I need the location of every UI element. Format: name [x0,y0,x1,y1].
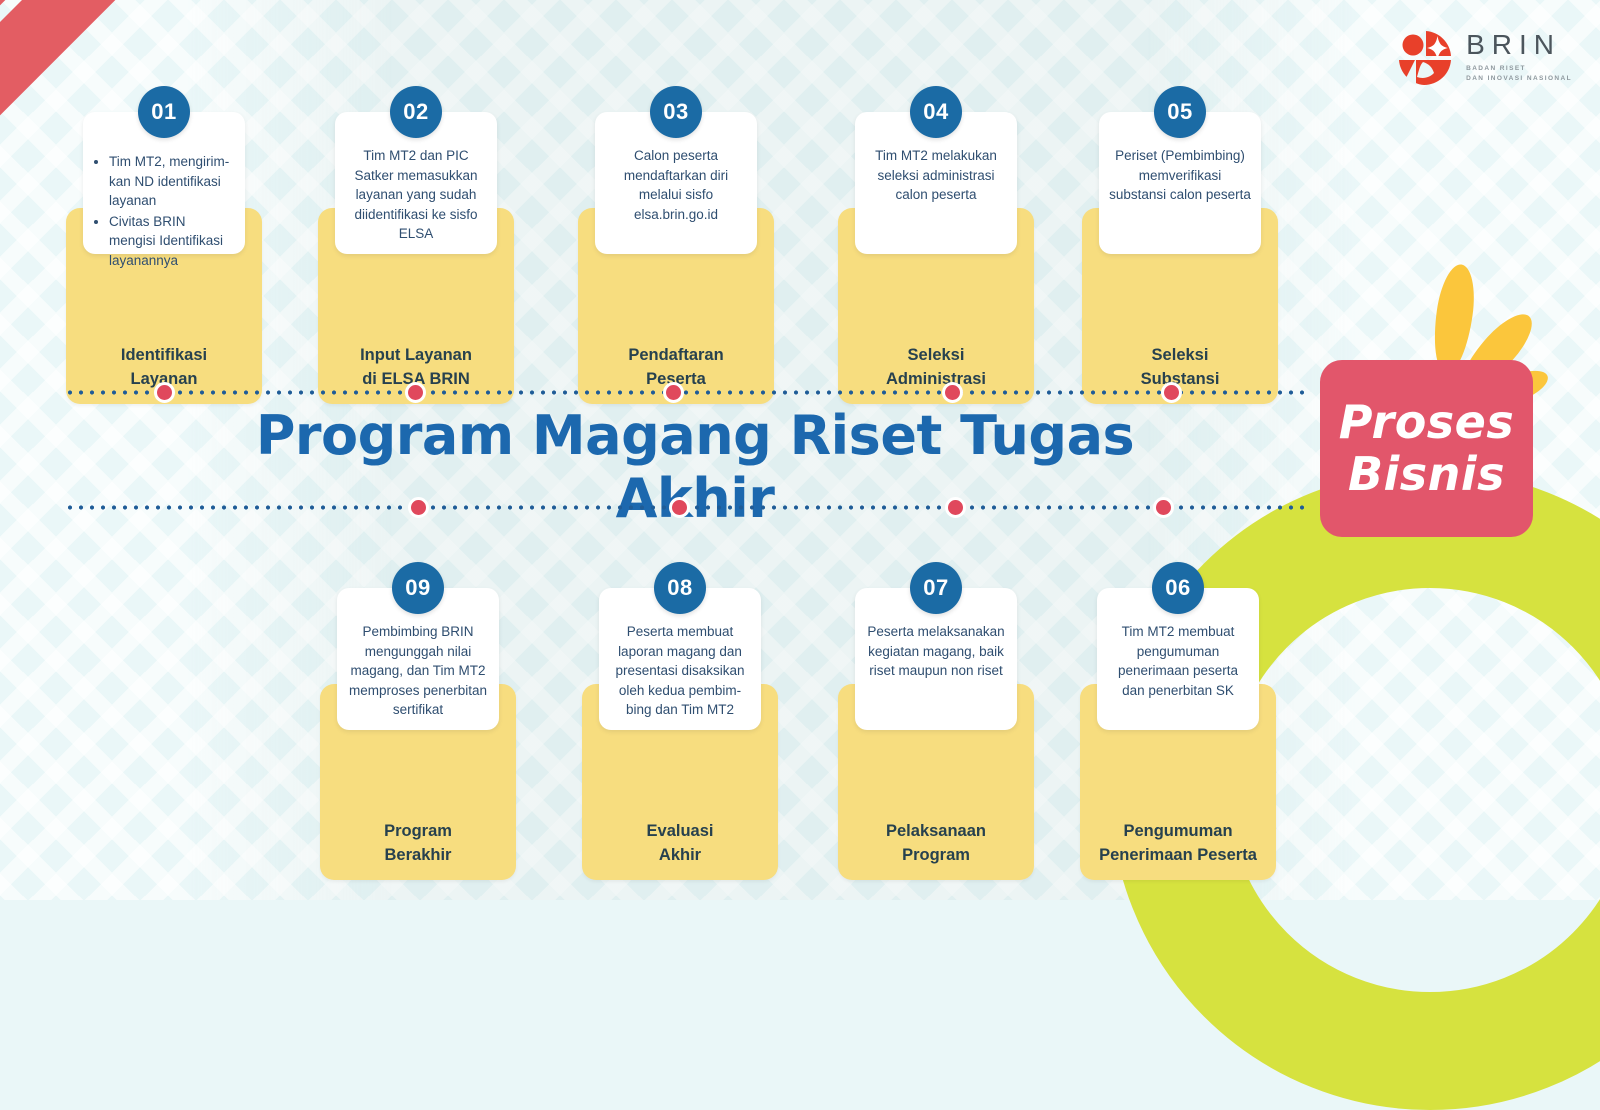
step-card-08-description: Peserta membuat laporan magang dan prese… [609,622,751,720]
step-card-06-title-line1: Pengumuman [1073,820,1283,844]
timeline-top-marker-2 [405,382,426,403]
brin-logo: BRIN BADAN RISET DAN INOVASI NASIONAL [1396,28,1572,86]
timeline-top-marker-5 [1161,382,1182,403]
timeline-top-marker-4 [942,382,963,403]
step-card-07-number: 07 [910,562,962,614]
step-card-04-title-line2: Administrasi [838,368,1034,392]
step-card-08-title: Evaluasi Akhir [582,820,778,868]
step-card-01-title-line1: Identifikasi [66,344,262,368]
step-card-04-title-line1: Seleksi [838,344,1034,368]
step-card-08-number: 08 [654,562,706,614]
step-card-09-title-line2: Berakhir [320,844,516,868]
step-card-01-number: 01 [138,86,190,138]
step-card-05-description: Periset (Pembimbing) memverifikasi subst… [1109,146,1251,205]
timeline-top-marker-3 [663,382,684,403]
proses-bisnis-box: Proses Bisnis [1320,360,1533,537]
step-card-07-description: Peserta melaksanakan kegiatan magang, ba… [865,622,1007,681]
step-card-06-number: 06 [1152,562,1204,614]
step-card-02-title-line1: Input Layanan [318,344,514,368]
step-card-09-number: 09 [392,562,444,614]
step-card-01-bullet-2: Civitas BRIN mengisi Identifikasi layana… [109,212,235,271]
step-card-08-title-line1: Evaluasi [582,820,778,844]
timeline-bottom-marker-2 [669,497,690,518]
step-card-05-title-line1: Seleksi [1082,344,1278,368]
timeline-bottom-marker-3 [945,497,966,518]
proses-bisnis-line1: Proses [1339,399,1515,446]
step-card-06-title: Pengumuman Penerimaan Peserta [1073,820,1283,868]
step-card-03-title-line1: Pendaftaran [578,344,774,368]
step-card-06-title-line2: Penerimaan Peserta [1073,844,1283,868]
step-card-06-description: Tim MT2 membuat pengumuman penerimaan pe… [1107,622,1249,700]
timeline-top-marker-1 [154,382,175,403]
brin-logo-mark [1396,28,1454,86]
step-card-05-number: 05 [1154,86,1206,138]
page-title: Program Magang Riset Tugas Akhir [180,404,1210,530]
timeline-top-line [66,390,1306,395]
step-card-01-description: Tim MT2, mengirim-kan ND identifikasi la… [93,146,235,270]
step-card-09-title: Program Berakhir [320,820,516,868]
timeline-bottom-marker-4 [1153,497,1174,518]
step-card-07-title-line2: Program [838,844,1034,868]
brin-brand-name: BRIN [1466,31,1572,59]
step-card-08-title-line2: Akhir [582,844,778,868]
step-card-07-title-line1: Pelaksanaan [838,820,1034,844]
proses-bisnis-badge: Proses Bisnis [1290,262,1550,542]
step-card-02-description: Tim MT2 dan PIC Satker memasukkan layana… [345,146,487,244]
step-card-04-number: 04 [910,86,962,138]
step-card-09-title-line1: Program [320,820,516,844]
step-card-03-number: 03 [650,86,702,138]
timeline-bottom-marker-1 [408,497,429,518]
step-card-07-title: Pelaksanaan Program [838,820,1034,868]
brin-tagline-line2: DAN INOVASI NASIONAL [1466,74,1572,83]
step-card-04-title: Seleksi Administrasi [838,344,1034,392]
proses-bisnis-line2: Bisnis [1348,451,1505,498]
brin-tagline: BADAN RISET DAN INOVASI NASIONAL [1466,64,1572,83]
step-card-09-description: Pembimbing BRIN mengunggah nilai magang,… [347,622,489,720]
step-card-01-bullet-1: Tim MT2, mengirim-kan ND identifikasi la… [109,152,235,211]
step-card-03-description: Calon peserta mendaftarkan diri melalui … [605,146,747,224]
step-card-05-title: Seleksi Substansi [1082,344,1278,392]
brin-tagline-line1: BADAN RISET [1466,64,1572,73]
brin-logo-text: BRIN BADAN RISET DAN INOVASI NASIONAL [1466,31,1572,83]
step-card-02-number: 02 [390,86,442,138]
step-card-04-description: Tim MT2 melakukan seleksi administrasi c… [865,146,1007,205]
